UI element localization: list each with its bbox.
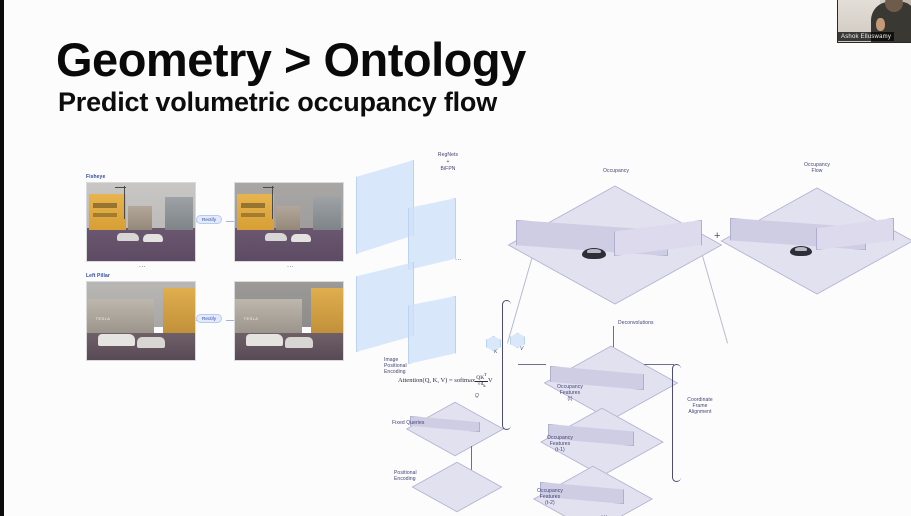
attention-formula-lhs: Attention(Q, K, V) = softmax [398, 377, 475, 384]
rectify-arrow-out-2 [226, 320, 234, 321]
features-to-alignment-connector [644, 364, 674, 365]
rectify-badge-2: Rectify [196, 314, 222, 323]
attention-formula-fraction: QKT√dk [475, 373, 488, 388]
occupancy-network-diagram: Fisheye Rectify ⋮ ⋮ Left Pillar [4, 130, 911, 516]
positional-encoding-slab-top [412, 462, 503, 512]
presentation-slide: Geometry > Ontology Predict volumetric o… [4, 0, 911, 516]
occupancy-features-t1-label-3: (t-1) [532, 447, 588, 453]
attention-formula: Attention(Q, K, V) = softmaxQKT√dkV [398, 373, 493, 388]
attention-formula-rhs: V [488, 377, 493, 384]
q-label: Q [475, 393, 479, 399]
attention-formula-transpose: T [484, 372, 487, 377]
ego-vehicle-icon-flow [790, 246, 812, 256]
rectify-badge-1: Rectify [196, 215, 222, 224]
camera-ellipsis-right: ⋮ [288, 263, 291, 270]
camera-ellipsis-left: ⋮ [140, 263, 143, 270]
occupancy-features-t2-label-3: (t-2) [522, 500, 578, 506]
backbone-label-bifpn: BiFPN [428, 166, 468, 172]
webcam-speaker-name: Ashok Elluswamy [838, 32, 894, 41]
feature-volume-1 [356, 160, 414, 254]
page-subtitle: Predict volumetric occupancy flow [58, 88, 497, 118]
screen-capture: Geometry > Ontology Predict volumetric o… [0, 0, 911, 516]
coordinate-frame-label-3: Alignment [676, 409, 724, 415]
feature-volume-2 [408, 198, 456, 270]
brace-to-features-arrow [518, 364, 546, 365]
backbone-label-plus: + [428, 159, 468, 165]
rectify-arrow-out-1 [226, 221, 234, 222]
v-label: V [520, 346, 523, 352]
feature-volume-4 [408, 296, 456, 364]
camera-label-left-pillar: Left Pillar [86, 273, 110, 279]
k-cube [486, 336, 501, 351]
occupancy-features-t-label-3: (t) [542, 396, 598, 402]
attention-group-brace [502, 300, 511, 430]
webcam-speaker-hand [876, 18, 885, 31]
ego-vehicle-icon-occupancy [582, 248, 606, 259]
webcam-overlay[interactable]: Ashok Elluswamy [837, 0, 911, 43]
deconvolutions-label: Deconvolutions [618, 320, 654, 326]
features-stack-ellipsis: ⋮ [602, 512, 605, 516]
camera-thumb-fisheye-rectified [234, 182, 344, 262]
occupancy-output-label: Occupancy [588, 168, 644, 174]
coordinate-frame-brace [672, 364, 681, 482]
camera-thumb-pillar-raw: TESLA [86, 281, 196, 361]
feature-volume-ellipsis: ⋮ [456, 256, 459, 263]
camera-thumb-fisheye-raw [86, 182, 196, 262]
feature-volume-3 [356, 262, 414, 352]
backbone-label-regnets: RegNets [428, 152, 468, 158]
page-title: Geometry > Ontology [56, 35, 526, 84]
camera-thumb-pillar-rectified: TESLA [234, 281, 344, 361]
camera-label-fisheye: Fisheye [86, 174, 105, 180]
occupancy-flow-label-2: Flow [790, 168, 844, 174]
fixed-queries-label: Fixed Queries [392, 420, 424, 426]
attention-formula-dk-sub: k [483, 383, 485, 388]
pos-encoding-label-2: Encoding [394, 476, 416, 482]
